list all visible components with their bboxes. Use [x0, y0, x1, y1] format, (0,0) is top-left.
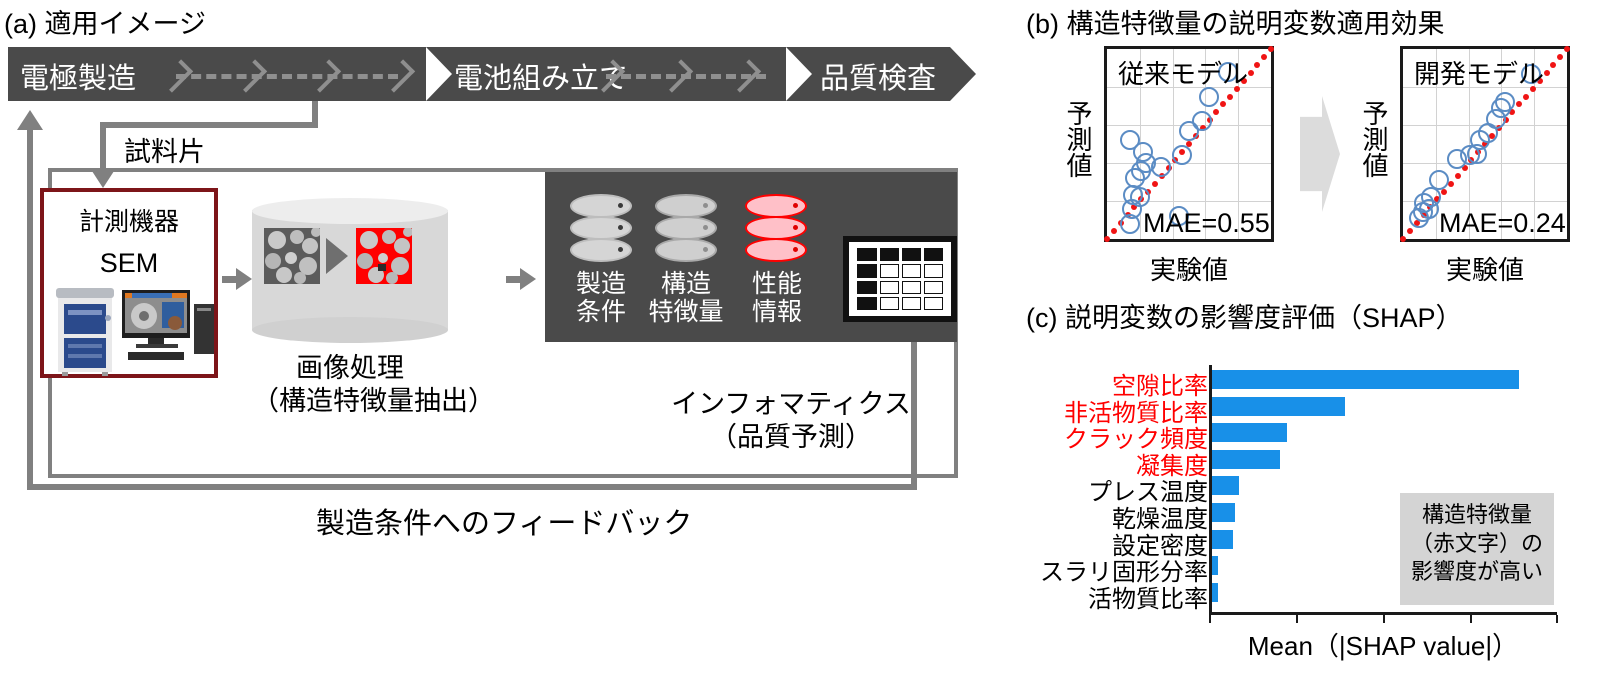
table-cell [880, 281, 899, 294]
data-table-grid [857, 248, 943, 310]
cylinder-top [252, 198, 448, 224]
shap-tick [1556, 615, 1558, 623]
scatter-point [1130, 187, 1150, 207]
shap-bar [1212, 583, 1218, 602]
table-cell [880, 248, 899, 261]
database-2-label: 構造 特徴量 [630, 270, 742, 326]
image-processing-cylinder [252, 198, 448, 343]
panel-b-title: (b) 構造特徴量の説明変数適用効果 [1026, 2, 1445, 41]
identity-line-dot [1220, 101, 1226, 107]
shap-note-text: 構造特徴量 （赤文字）の 影響度が高い [1400, 501, 1554, 587]
identity-line-dot [1407, 228, 1413, 234]
sem-label: SEM [44, 248, 214, 279]
table-cell [924, 281, 943, 294]
scatter-point [1151, 157, 1171, 177]
identity-line-dot [1152, 181, 1158, 187]
process-stage-1-label: 電極製造 [20, 55, 136, 97]
table-cell [857, 281, 877, 294]
sample-connector-horiz [100, 122, 318, 128]
shap-tick [1209, 615, 1211, 623]
database-2-label-line2: 特徴量 [648, 298, 723, 326]
table-cell [857, 248, 877, 261]
sample-connector-vert-left [100, 122, 106, 170]
process-stage-3-tip [950, 47, 976, 101]
plot-right-mae: MAE=0.24 [1439, 208, 1566, 239]
plot-right-model-name: 開発モデル [1414, 54, 1544, 91]
plot-left-ylabel: 予測値 [1060, 100, 1097, 178]
informatics-caption-line2: （品質予測） [625, 421, 957, 454]
panel-c-title: (c) 説明変数の影響度評価（SHAP） [1026, 296, 1463, 335]
db1-dot-1 [618, 203, 623, 208]
database-1-label-line1: 製造 [576, 270, 626, 298]
table-cell [924, 264, 943, 277]
table-cell [902, 297, 921, 310]
measurement-box-title: 計測機器 [44, 202, 214, 238]
identity-line-dot [1564, 46, 1570, 52]
shap-bar [1212, 556, 1218, 575]
database-2-label-line1: 構造 [661, 270, 711, 298]
identity-line-dot [1455, 173, 1461, 179]
db1-dot-3 [618, 247, 623, 252]
image-processing-caption-line1: 画像処理 [252, 352, 448, 385]
shap-bar [1212, 503, 1235, 522]
database-structural-features[interactable] [655, 194, 717, 262]
shap-note-line3: 影響度が高い [1400, 558, 1554, 587]
db2-dot-2 [703, 225, 708, 230]
identity-line-dot [1213, 109, 1219, 115]
shap-bar [1212, 423, 1287, 442]
shap-bar [1212, 450, 1280, 469]
database-3-label: 性能 情報 [727, 270, 827, 326]
shap-tick [1383, 615, 1385, 623]
db2-dot-3 [703, 247, 708, 252]
db3-dot-1 [793, 203, 798, 208]
table-cell [880, 264, 899, 277]
stage-1-dash [176, 74, 398, 79]
db2-dot-1 [703, 203, 708, 208]
image-processing-caption: 画像処理 （構造特徴量抽出） [252, 352, 448, 418]
image-processing-caption-line2: （構造特徴量抽出） [252, 385, 448, 418]
shap-tick [1296, 615, 1298, 623]
identity-line-dot [1227, 94, 1233, 100]
sem-micrograph-segmented [356, 228, 412, 284]
panel-a-title: (a) 適用イメージ [4, 2, 206, 41]
plot-left-mae: MAE=0.55 [1143, 208, 1270, 239]
database-1-label-line2: 条件 [576, 298, 626, 326]
identity-line-dot [1268, 46, 1274, 52]
improvement-arrow-icon [1300, 96, 1340, 212]
arrow-cyl-to-info-head [520, 268, 536, 290]
measurement-equipment-box[interactable]: 計測機器 SEM [40, 188, 218, 378]
identity-line-dot [1544, 70, 1550, 76]
identity-line-dot [1254, 62, 1260, 68]
feedback-label: 製造条件へのフィードバック [316, 500, 692, 542]
informatics-caption: インフォマティクス （品質予測） [625, 388, 957, 454]
identity-line-dot [1248, 70, 1254, 76]
shap-bar [1212, 476, 1239, 495]
scatter-point [1421, 187, 1441, 207]
table-cell [880, 297, 899, 310]
identity-line-dot [1523, 94, 1529, 100]
feedback-line-horiz [27, 484, 917, 490]
plot-right-xlabel: 実験値 [1400, 250, 1570, 287]
plot-left-model-name: 従来モデル [1118, 54, 1248, 91]
table-cell [857, 297, 877, 310]
identity-line-dot [1111, 228, 1117, 234]
table-cell [924, 248, 943, 261]
db1-dot-2 [618, 225, 623, 230]
feedback-arrow-head [17, 110, 43, 130]
table-cell [902, 264, 921, 277]
gridline-horizontal [1403, 163, 1567, 164]
table-cell [857, 264, 877, 277]
identity-line-dot [1400, 236, 1406, 242]
plot-right-ylabel: 予測値 [1356, 100, 1393, 178]
sample-label: 試料片 [124, 130, 205, 169]
database-performance-info[interactable] [745, 194, 807, 262]
db3-dot-3 [793, 247, 798, 252]
data-table-icon[interactable] [843, 236, 957, 322]
data-table-inner [849, 242, 951, 316]
table-cell [902, 248, 921, 261]
cylinder-bottom [252, 317, 448, 343]
feedback-line-vert [27, 130, 33, 490]
table-cell [902, 281, 921, 294]
gridline-horizontal [1107, 163, 1271, 164]
shap-note-line2: （赤文字）の [1400, 530, 1554, 559]
shap-bar [1212, 530, 1233, 549]
identity-line-dot [1104, 236, 1110, 242]
shap-bar [1212, 370, 1519, 389]
shap-tick [1470, 615, 1472, 623]
db3-dot-2 [793, 225, 798, 230]
shap-xaxis-label: Mean（|SHAP value|） [1209, 626, 1557, 663]
shap-bar [1212, 397, 1345, 416]
sem-micrograph-raw [264, 228, 320, 284]
scatter-point [1429, 170, 1449, 190]
sem-instrument-icon [50, 284, 120, 376]
database-manufacturing-conditions[interactable] [570, 194, 632, 262]
identity-line-dot [1261, 54, 1267, 60]
identity-line-dot [1516, 101, 1522, 107]
process-stage-3-label: 品質検査 [820, 55, 936, 97]
table-cell [924, 297, 943, 310]
identity-line-dot [1557, 54, 1563, 60]
plot-left-xlabel: 実験値 [1104, 250, 1274, 287]
shap-category-label: 活物質比率 [1020, 579, 1208, 614]
process-flow-banner: 電極製造 電池組み立て 品質検査 [8, 47, 976, 101]
sem-monitor-icon [122, 290, 216, 376]
informatics-caption-line1: インフォマティクス [625, 388, 957, 421]
identity-line-dot [1550, 62, 1556, 68]
scatter-point [1192, 111, 1212, 131]
database-3-label-line1: 性能 [752, 270, 802, 298]
shap-note-line1: 構造特徴量 [1400, 501, 1554, 530]
database-3-label-line2: 情報 [752, 298, 802, 326]
scatter-point [1495, 92, 1515, 112]
arrow-meas-to-cyl-head [236, 268, 252, 290]
